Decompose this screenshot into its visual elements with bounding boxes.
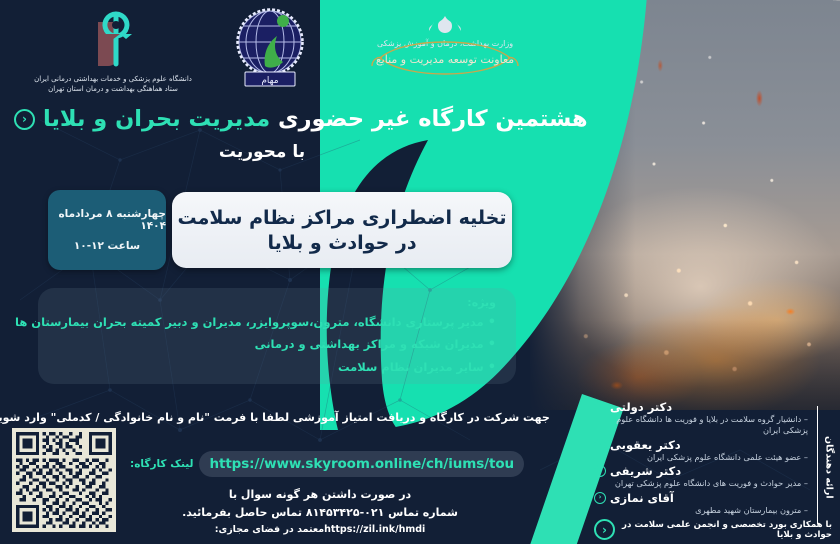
event-time: ساعت ۱۲-۱۰	[74, 240, 140, 252]
iums-logo: دانشگاه علوم پزشکی و خدمات بهداشتی درمان…	[28, 8, 198, 94]
presenter-name: دکتر یعقوبی	[610, 438, 681, 452]
logo-strip: دانشگاه علوم پزشکی و خدمات بهداشتی درمان…	[0, 0, 560, 108]
hmdi-globe-icon: مهام	[231, 6, 309, 90]
bullet-dot-icon: •	[488, 360, 496, 375]
presenters-side-label: ارائه دهندگان	[820, 412, 838, 522]
chevron-left-icon: ‹	[594, 519, 615, 540]
registration-note: جهت شرکت در کارگاه و دریافت امتیاز آموزش…	[0, 411, 550, 424]
presenter-affiliation: – دانشیار گروه سلامت در بلایا و فوریت ها…	[594, 414, 810, 437]
audience-item: • مدیران شبکه و مراکز بهداشتی و درمانی	[54, 334, 496, 356]
headline-banner: تخلیه اضطراری مراکز نظام سلامت در حوادث …	[172, 192, 512, 268]
workshop-link-label: لینک کارگاه:	[130, 458, 193, 470]
headline-line-1: تخلیه اضطراری مراکز نظام سلامت	[177, 207, 506, 229]
presenter-affiliation: – مدیر حوادث و فوریت های دانشگاه علوم پز…	[594, 478, 810, 489]
workshop-link-row: لینک کارگاه: https://www.skyroom.online/…	[130, 450, 520, 477]
event-date-chip: چهارشنبه ۸ مردادماه ۱۴۰۴ ساعت ۱۲-۱۰	[48, 190, 166, 270]
audience-item: • سایر مدیران نظام سلامت	[54, 357, 496, 379]
hmdi-logo: مهام	[210, 6, 330, 94]
page-title-prefix: هشتمین کارگاه غیر حضوری	[270, 106, 587, 132]
presenter-name: آقای نمازی	[610, 491, 674, 505]
audience-item: • مدیر پرستاری دانشگاه، مترون،سوپروایزر،…	[54, 312, 496, 334]
chevron-left-icon: ‹	[594, 492, 606, 504]
chevron-left-icon: ‹	[594, 401, 606, 413]
presenter-list: ‹ دکتر دولتی – دانشیار گروه سلامت در بلا…	[594, 400, 810, 517]
workshop-link-pill[interactable]: https://www.skyroom.online/ch/iums/tou	[199, 451, 524, 477]
presenter-item: ‹ دکتر یعقوبی – عضو هیئت علمی دانشگاه عل…	[594, 438, 810, 463]
svg-text:معاونت توسعه مدیریت و منابع: معاونت توسعه مدیریت و منابع	[376, 53, 514, 66]
contact-block: در صورت داشتن هر گونه سوال با شماره تماس…	[120, 487, 520, 537]
workshop-url[interactable]: https://www.skyroom.online/ch/iums/tou	[209, 456, 514, 472]
bullet-dot-icon: •	[488, 337, 496, 352]
iums-logo-caption-2: ستاد هماهنگی بهداشت و درمان استان تهران	[28, 84, 198, 94]
contact-phone-line: شماره تماس ۰۲۱-۸۱۴۵۳۴۲۵ تماس حاصل بفرمائ…	[120, 504, 520, 523]
headline-line-2: در حوادث و بلایا	[267, 232, 416, 254]
event-poster: دانشگاه علوم پزشکی و خدمات بهداشتی درمان…	[0, 0, 840, 544]
chevron-left-icon: ‹	[14, 109, 35, 130]
contact-question-line: در صورت داشتن هر گونه سوال با	[120, 487, 520, 504]
presenter-name-row: ‹ دکتر شریفی	[594, 464, 810, 478]
page-title: هشتمین کارگاه غیر حضوری مدیریت بحران و ب…	[43, 106, 588, 132]
iums-emblem-icon	[82, 8, 144, 70]
audience-panel: ویژه: • مدیر پرستاری دانشگاه، مترون،سوپر…	[38, 288, 516, 384]
svg-text:مهام: مهام	[261, 76, 278, 86]
chevron-left-icon: ‹	[594, 439, 606, 451]
bullet-dot-icon: •	[488, 315, 496, 330]
presenter-affiliation: – مترون بیمارستان شهید مطهری	[594, 505, 810, 516]
vertical-divider	[817, 406, 819, 524]
main-title-row: ‹ هشتمین کارگاه غیر حضوری مدیریت بحران و…	[14, 106, 510, 132]
ministry-logo: وزارت بهداشت، درمان و آموزش پزشکی معاونت…	[345, 10, 545, 102]
contact-social-line: https://zil.ink/hmdiمعتمد در فضای مجازی:	[120, 522, 520, 537]
presenter-item: ‹ آقای نمازی – مترون بیمارستان شهید مطهر…	[594, 491, 810, 516]
audience-item-label: سایر مدیران نظام سلامت	[338, 360, 484, 374]
chevron-left-icon: ‹	[594, 465, 606, 477]
presenter-name: دکتر دولتی	[610, 400, 672, 414]
audience-item-label: مدیران شبکه و مراکز بهداشتی و درمانی	[255, 337, 484, 351]
iums-logo-caption-1: دانشگاه علوم پزشکی و خدمات بهداشتی درمان…	[28, 74, 198, 84]
audience-heading: ویژه:	[54, 296, 496, 309]
audience-item-label: مدیر پرستاری دانشگاه، مترون،سوپروایزر، م…	[15, 315, 484, 329]
title-subtitle: با محوریت	[14, 142, 510, 162]
presenter-name-row: ‹ دکتر یعقوبی	[594, 438, 810, 452]
registration-note-row: ‹ جهت شرکت در کارگاه و دریافت امتیاز آمو…	[10, 410, 510, 425]
presenters-sidebar: ارائه دهندگان ‹ دکتر دولتی – دانشیار گرو…	[590, 398, 840, 544]
page-title-accent: مدیریت بحران و بلایا	[43, 106, 270, 132]
presenter-affiliation: – عضو هیئت علمی دانشگاه علوم پزشکی ایران	[594, 452, 810, 463]
event-date: چهارشنبه ۸ مردادماه ۱۴۰۴	[48, 208, 166, 232]
presenter-name-row: ‹ آقای نمازی	[594, 491, 810, 505]
presenter-name: دکتر شریفی	[610, 464, 681, 478]
collaboration-text: با همکاری بورد تخصصی و انجمن علمی سلامت …	[619, 520, 832, 540]
social-url[interactable]: https://zil.ink/hmdi	[324, 522, 425, 537]
presenter-item: ‹ دکتر دولتی – دانشیار گروه سلامت در بلا…	[594, 400, 810, 437]
presenter-name-row: ‹ دکتر دولتی	[594, 400, 810, 414]
social-label: معتمد در فضای مجازی:	[215, 524, 324, 535]
presenter-item: ‹ دکتر شریفی – مدیر حوادث و فوریت های دا…	[594, 464, 810, 489]
svg-text:وزارت بهداشت، درمان و آموزش پز: وزارت بهداشت، درمان و آموزش پزشکی	[377, 38, 513, 48]
ministry-emblem-icon: وزارت بهداشت، درمان و آموزش پزشکی معاونت…	[350, 10, 540, 98]
collaboration-row: ‹ با همکاری بورد تخصصی و انجمن علمی سلام…	[594, 519, 832, 540]
qr-code[interactable]	[12, 428, 116, 532]
qr-code-icon	[16, 432, 112, 528]
